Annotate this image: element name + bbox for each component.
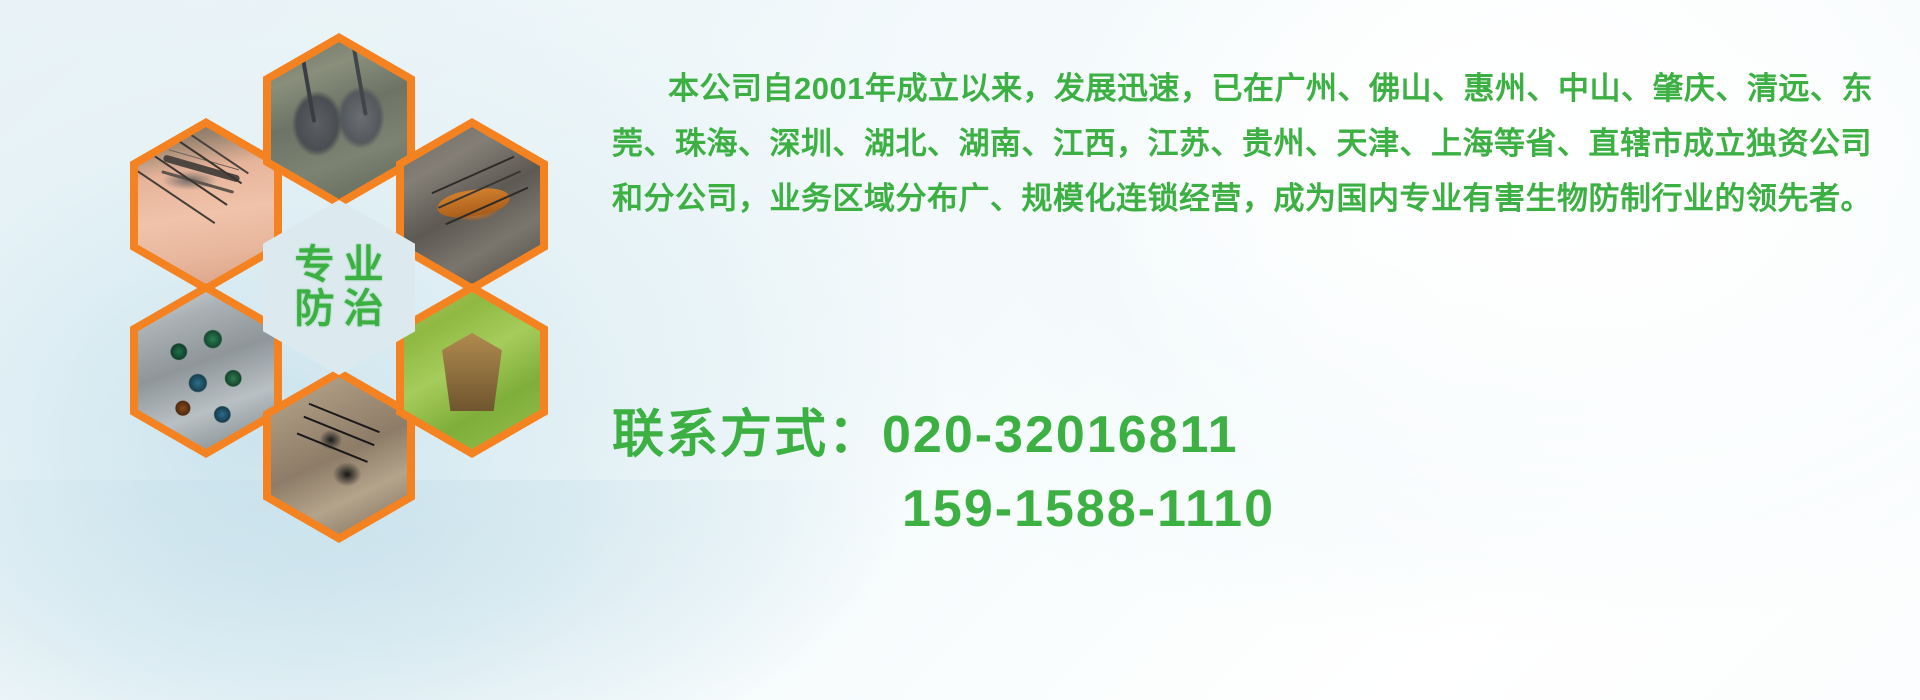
- rats-photo: [271, 42, 407, 199]
- stinkbug-photo: [404, 292, 540, 449]
- hex-cell-mosquito[interactable]: [130, 118, 282, 293]
- contact-line-secondary[interactable]: 159-1588-1110: [612, 472, 1902, 546]
- hex-cell-ant[interactable]: [263, 368, 415, 543]
- hex-cell-rats[interactable]: [263, 33, 415, 208]
- logo-line-1: 专业: [286, 244, 393, 287]
- mosquito-photo: [138, 127, 274, 284]
- hex-cell-cockroach[interactable]: [396, 118, 548, 293]
- logo-line-2: 防治: [286, 288, 393, 331]
- intro-copy-block: 本公司自2001年成立以来，发展迅速，已在广州、佛山、惠州、中山、肇庆、清远、东…: [612, 30, 1902, 257]
- company-intro-paragraph: 本公司自2001年成立以来，发展迅速，已在广州、佛山、惠州、中山、肇庆、清远、东…: [612, 61, 1902, 226]
- promo-banner: 专业 防治 本公司自2001年成立以来，发展迅速，已在广州、佛山、惠州、中山、肇…: [0, 0, 1920, 700]
- contact-line-primary[interactable]: 联系方式：020-32016811: [612, 398, 1902, 472]
- contact-block: 联系方式：020-32016811 159-1588-1110: [612, 398, 1902, 546]
- flies-photo: [138, 292, 274, 449]
- ant-photo: [271, 377, 407, 534]
- hex-cell-flies[interactable]: [130, 283, 282, 458]
- logo-block: 专业 防治: [271, 209, 407, 366]
- cockroach-photo: [404, 127, 540, 284]
- hexagon-image-cluster: 专业 防治: [88, 8, 588, 568]
- hex-cell-stinkbug[interactable]: [396, 283, 548, 458]
- hex-cell-logo: 专业 防治: [263, 200, 415, 375]
